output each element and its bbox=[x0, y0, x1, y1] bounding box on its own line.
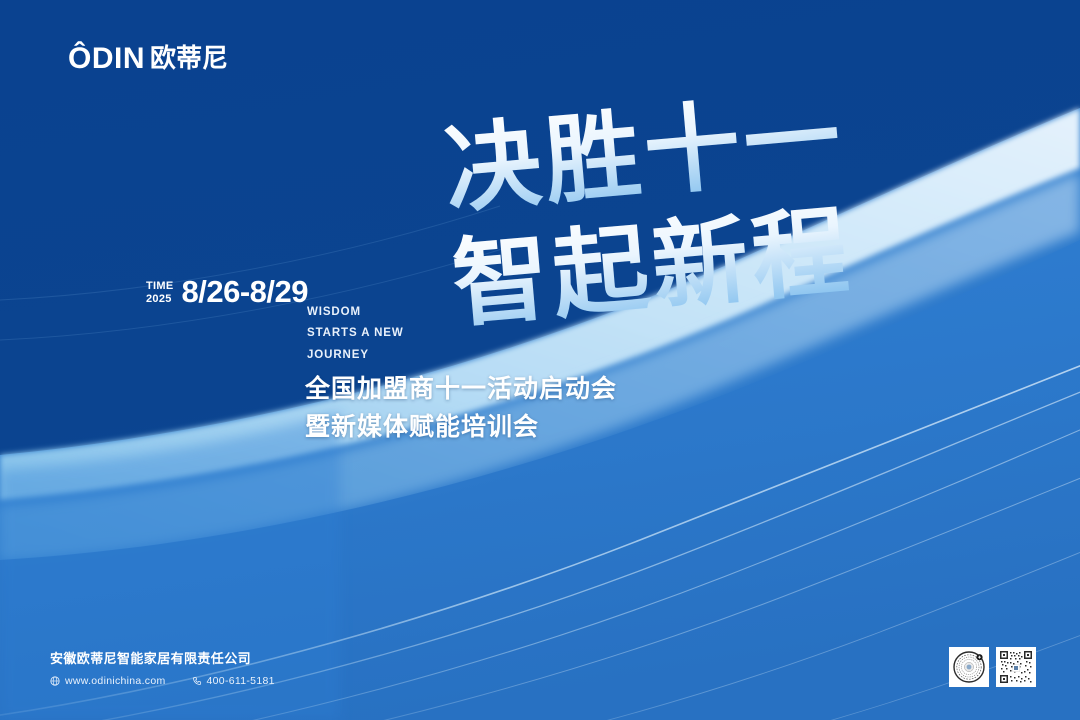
logo-latin-text: ÔDIN bbox=[68, 44, 145, 74]
subtitle-line-2: 暨新媒体赋能培训会 bbox=[305, 408, 617, 446]
qr-code[interactable] bbox=[996, 647, 1036, 687]
event-poster: ÔDIN 欧蒂尼 决胜十一 智起新程 TIME 2025 8/26-8/29 W… bbox=[0, 0, 1080, 720]
time-label-year: 2025 bbox=[146, 293, 173, 306]
event-date-block: TIME 2025 8/26-8/29 bbox=[146, 276, 308, 307]
english-tagline: WISDOM STARTS A NEW JOURNEY bbox=[307, 302, 404, 366]
subtitle-line-1: 全国加盟商十一活动启动会 bbox=[305, 370, 617, 408]
event-date-value: 8/26-8/29 bbox=[181, 276, 308, 307]
website-text: www.odinichina.com bbox=[65, 675, 166, 687]
code-group bbox=[949, 647, 1036, 687]
brand-logo: ÔDIN 欧蒂尼 bbox=[68, 44, 228, 74]
tagline-line-1: WISDOM bbox=[307, 302, 404, 323]
company-name: 安徽欧蒂尼智能家居有限责任公司 bbox=[50, 650, 275, 670]
phone-item: 400-611-5181 bbox=[192, 675, 275, 687]
time-label-top: TIME bbox=[146, 280, 173, 293]
logo-chinese-text: 欧蒂尼 bbox=[150, 46, 228, 72]
contact-row: www.odinichina.com 400-611-5181 bbox=[50, 675, 275, 687]
footer-info: 安徽欧蒂尼智能家居有限责任公司 www.odinichina.com 400-6… bbox=[50, 650, 275, 688]
event-subtitle: 全国加盟商十一活动启动会 暨新媒体赋能培训会 bbox=[305, 370, 617, 446]
headline-calligraphy: 决胜十一 智起新程 bbox=[440, 112, 910, 342]
website-item: www.odinichina.com bbox=[50, 675, 166, 687]
phone-text: 400-611-5181 bbox=[207, 675, 275, 687]
globe-icon bbox=[50, 676, 60, 686]
time-label: TIME 2025 bbox=[146, 276, 173, 305]
phone-icon bbox=[192, 676, 202, 686]
tagline-line-3: JOURNEY bbox=[307, 345, 404, 366]
tagline-line-2: STARTS A NEW bbox=[307, 323, 404, 344]
wechat-circle-code[interactable] bbox=[949, 647, 989, 687]
